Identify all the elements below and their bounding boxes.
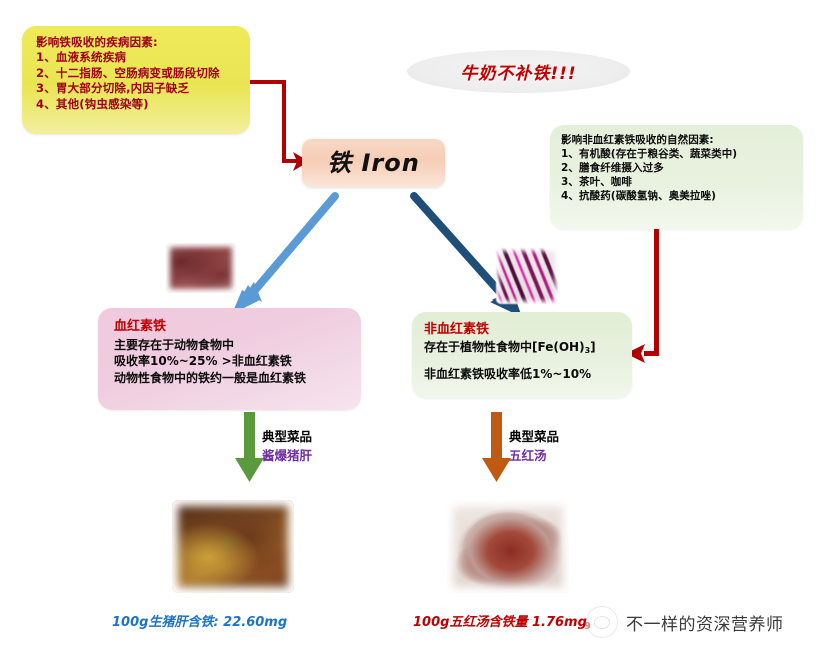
nonheme-iron-line-1: 存在于植物性食物中[Fe(OH)3] <box>424 339 626 357</box>
disease-factors-title: 影响铁吸收的疾病因素: <box>36 35 238 50</box>
right-dish-caption: 100g五红汤含铁量 1.76mg <box>413 611 587 630</box>
left-dish-label-top: 典型菜品 <box>262 428 312 447</box>
braised-liver-photo <box>172 500 294 593</box>
natural-factors-title: 影响非血红素铁吸收的自然因素: <box>561 133 795 147</box>
brand-logo-icon: 9 <box>586 606 618 638</box>
right-dish-label-name: 五红汤 <box>509 447 559 466</box>
natural-factors-item-4: 4、抗酸药(碳酸氢钠、奥美拉唑) <box>561 189 795 203</box>
right-dish-labels: 典型菜品 五红汤 <box>509 428 559 466</box>
disease-factors-item-2: 2、十二指肠、空肠病变或肠段切除 <box>36 66 238 81</box>
watermark-text: 不一样的资深营养师 <box>626 610 784 635</box>
right-dish-label-top: 典型菜品 <box>509 428 559 447</box>
disease-factors-box: 影响铁吸收的疾病因素: 1、血液系统疾病 2、十二指肠、空肠病变或肠段切除 3、… <box>22 26 250 134</box>
milk-banner-text: 牛奶不补铁!!! <box>460 59 576 84</box>
milk-banner: 牛奶不补铁!!! <box>407 50 630 93</box>
heme-iron-line-2: 吸收率10%~25% >非血红素铁 <box>114 353 351 369</box>
heme-iron-line-3: 动物性食物中的铁约一般是血红素铁 <box>114 370 351 386</box>
arrow-iron-to-heme <box>218 190 343 320</box>
nonheme-iron-title: 非血红素铁 <box>424 321 626 338</box>
raw-liver-thumbnail <box>166 243 236 293</box>
red-connector-h3 <box>644 351 659 356</box>
iron-node: 铁 Iron <box>302 139 445 187</box>
five-red-soup-photo <box>447 500 569 593</box>
natural-factors-item-3: 3、茶叶、咖啡 <box>561 175 795 189</box>
nonheme-formula-prefix: 存在于植物性食物中[Fe(OH) <box>424 340 585 354</box>
red-connector-h1 <box>250 80 286 84</box>
nonheme-iron-line-2: 非血红素铁吸收率低1%~10% <box>424 366 626 382</box>
heme-iron-title: 血红素铁 <box>114 318 351 335</box>
natural-factors-box: 影响非血红素铁吸收的自然因素: 1、有机酸(存在于粮谷类、蔬菜类中) 2、膳食纤… <box>550 125 803 229</box>
left-dish-labels: 典型菜品 酱爆猪肝 <box>262 428 312 466</box>
disease-factors-item-1: 1、血液系统疾病 <box>36 50 238 65</box>
infographic-canvas: 影响铁吸收的疾病因素: 1、血液系统疾病 2、十二指肠、空肠病变或肠段切除 3、… <box>0 0 821 648</box>
red-connector-v2 <box>654 229 659 356</box>
left-dish-label-name: 酱爆猪肝 <box>262 447 312 466</box>
natural-factors-item-1: 1、有机酸(存在于粮谷类、蔬菜类中) <box>561 147 795 161</box>
natural-factors-item-2: 2、膳食纤维摄入过多 <box>561 161 795 175</box>
brand-badge: 9 <box>584 621 591 632</box>
heme-iron-box: 血红素铁 主要存在于动物食物中 吸收率10%~25% >非血红素铁 动物性食物中… <box>98 308 361 410</box>
nonheme-iron-box: 非血红素铁 存在于植物性食物中[Fe(OH)3] 非血红素铁吸收率低1%~10% <box>412 312 632 398</box>
disease-factors-item-4: 4、其他(钩虫感染等) <box>36 97 238 112</box>
red-connector-v1 <box>282 80 286 163</box>
iron-node-label: 铁 Iron <box>327 147 420 179</box>
purple-vegetable-thumbnail <box>496 248 558 304</box>
nonheme-spacer <box>424 357 626 366</box>
nonheme-formula-suffix: ] <box>590 340 595 354</box>
watermark: 9 不一样的资深营养师 <box>586 606 784 638</box>
heme-iron-line-1: 主要存在于动物食物中 <box>114 337 351 353</box>
left-dish-caption: 100g生猪肝含铁: 22.60mg <box>112 611 287 630</box>
disease-factors-item-3: 3、胃大部分切除,内因子缺乏 <box>36 81 238 96</box>
